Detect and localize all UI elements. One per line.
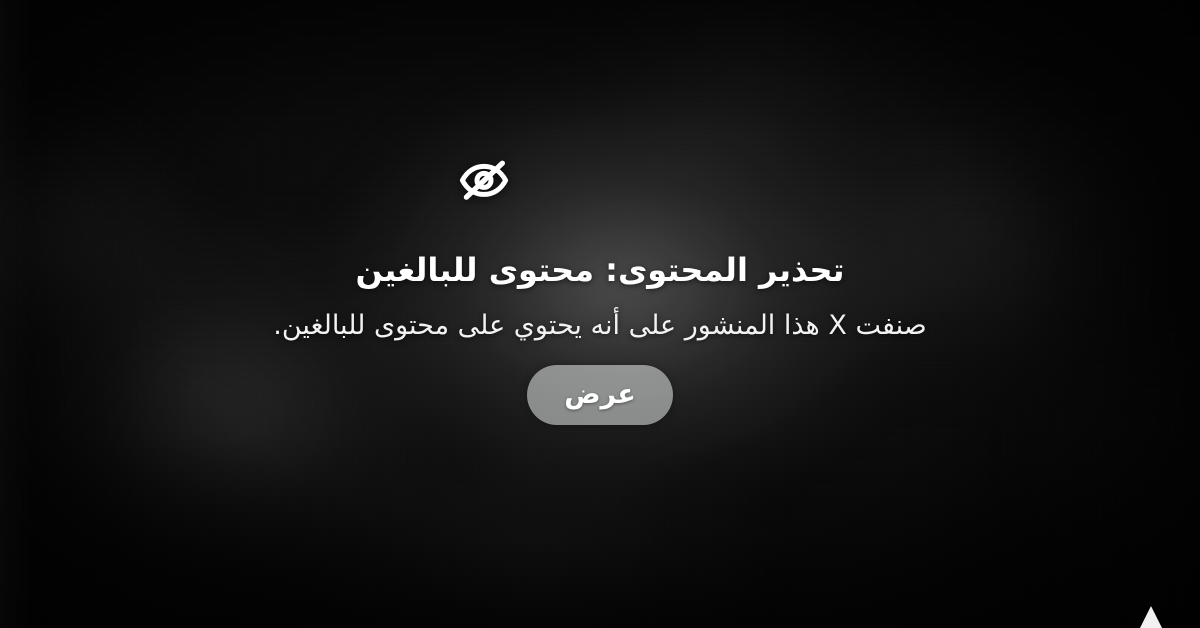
eye-off-icon <box>456 158 512 202</box>
view-button[interactable]: عرض <box>527 365 673 425</box>
corner-peak-decoration <box>1138 606 1164 628</box>
page-title: تحذير المحتوى: محتوى للبالغين <box>0 250 968 290</box>
warning-description: صنفت X هذا المنشور على أنه يحتوي على محت… <box>0 308 968 343</box>
content-warning-interstitial: تحذير المحتوى: محتوى للبالغين صنفت X هذا… <box>0 0 1200 628</box>
warning-actions: عرض <box>0 365 968 425</box>
warning-icon-row <box>0 152 968 208</box>
warning-panel: تحذير المحتوى: محتوى للبالغين صنفت X هذا… <box>0 152 1200 425</box>
